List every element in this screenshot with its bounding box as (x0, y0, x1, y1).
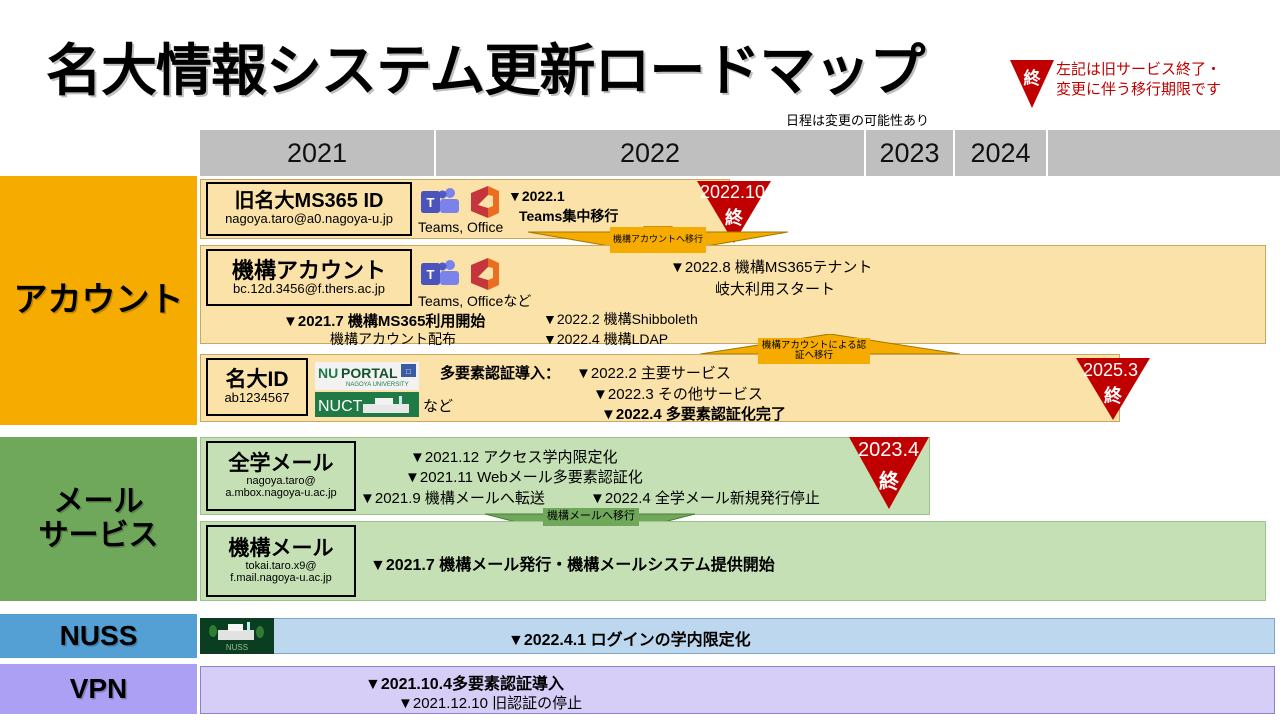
event-kikou-account-1: ▼2022.8 機構MS365テナント (670, 256, 872, 277)
nuct-logo: NUCT (315, 392, 419, 417)
svg-text:T: T (427, 267, 435, 282)
schedule-note: 日程は変更の可能性あり (786, 110, 929, 129)
event-meidai-id-3: ▼2022.3 その他サービス (593, 383, 763, 404)
year-cell-2022: 2022 (436, 130, 866, 176)
teams-icon: T (420, 258, 460, 290)
event-nuss-1: ▼2022.4.1 ログインの学内限定化 (508, 626, 751, 650)
roadmap-slide: 名大情報システム更新ロードマップ 日程は変更の可能性あり 終 左記は旧サービス終… (0, 0, 1280, 720)
icon-caption-kikou-account: Teams, Officeなど (418, 291, 531, 311)
chip-meidai-id: 名大ID ab1234567 (206, 358, 308, 416)
svg-text:PORTAL: PORTAL (341, 365, 398, 381)
svg-text:NUSS: NUSS (226, 643, 248, 652)
event-old-ms365-1: ▼2022.1 (508, 188, 565, 204)
end-marker-2023-4: 2023.4 終 (849, 437, 929, 509)
legend-marker-kanji: 終 (1010, 64, 1054, 89)
migration-label-to-kikou-mail: 機構メールへ移行 (543, 508, 639, 526)
chip-zengaku-mail: 全学メール nagoya.taro@ a.mbox.nagoya-u.ac.jp (206, 441, 356, 511)
event-meidai-id-1: 多要素認証導入： (440, 362, 560, 383)
year-cell-blank (1048, 130, 1280, 176)
event-zengaku-mail-3: ▼2021.9 機構メールへ転送 (360, 487, 545, 508)
migration-label-to-kikou-account: 機構アカウントへ移行 (610, 227, 706, 253)
year-cell-2024: 2024 (955, 130, 1048, 176)
chip-title-zengaku-mail: 全学メール (229, 453, 334, 475)
timeline-year-header: 2021 2022 2023 2024 (200, 130, 1280, 176)
section-label-vpn-text: VPN (70, 673, 128, 704)
end-marker-2025-3-date: 2025.3 (1083, 360, 1138, 381)
svg-text:NAGOYA UNIVERSITY: NAGOYA UNIVERSITY (346, 382, 409, 388)
legend-end-marker-icon: 終 (1010, 60, 1054, 108)
event-meidai-id-4: ▼2022.4 多要素認証化完了 (601, 403, 786, 424)
office-icon (466, 185, 500, 219)
chip-old-ms365-id: 旧名大MS365 ID nagoya.taro@a0.nagoya-u.jp (206, 182, 412, 236)
legend-line-1: 左記は旧サービス終了・ (1056, 60, 1221, 80)
nuss-icon: NUSS (200, 618, 274, 654)
end-marker-2025-3-kanji: 終 (1076, 382, 1150, 408)
chip-sub-kikou-mail-2: f.mail.nagoya-u.ac.jp (230, 572, 332, 584)
icon-caption-meidai-id: など (423, 395, 453, 416)
row-band-vpn (200, 666, 1275, 714)
legend-text: 左記は旧サービス終了・ 変更に伴う移行期限です (1056, 60, 1221, 100)
icon-caption-old-ms365-id: Teams, Office (418, 219, 503, 235)
section-label-mail: メール サービス (0, 437, 197, 601)
event-kikou-account-3: ▼2021.7 機構MS365利用開始 (283, 310, 485, 331)
section-label-mail-line2: サービス (39, 519, 159, 553)
svg-text:NUCT: NUCT (318, 398, 363, 415)
year-cell-2021: 2021 (200, 130, 436, 176)
event-kikou-account-6: ▼2022.4 機構LDAP (543, 329, 668, 349)
event-zengaku-mail-1: ▼2021.12 アクセス学内限定化 (410, 446, 618, 467)
end-marker-2023-4-kanji: 終 (849, 465, 929, 494)
section-label-vpn: VPN (0, 664, 197, 714)
chip-sub-old-ms365-id: nagoya.taro@a0.nagoya-u.jp (225, 212, 393, 227)
event-meidai-id-2: ▼2022.2 主要サービス (576, 362, 731, 383)
section-label-account: アカウント (0, 176, 197, 425)
chip-sub-zengaku-mail-1: nagoya.taro@ (246, 475, 315, 487)
event-zengaku-mail-4: ▼2022.4 全学メール新規発行停止 (590, 487, 820, 508)
event-kikou-account-5: ▼2022.2 機構Shibboleth (543, 309, 698, 329)
event-kikou-account-4: 機構アカウント配布 (330, 329, 456, 349)
chip-sub-zengaku-mail-2: a.mbox.nagoya-u.ac.jp (225, 487, 336, 499)
teams-icon: T (420, 186, 460, 218)
legend-line-2: 変更に伴う移行期限です (1056, 80, 1221, 100)
event-kikou-mail-1: ▼2021.7 機構メール発行・機構メールシステム提供開始 (370, 551, 775, 575)
event-vpn-2: ▼2021.12.10 旧認証の停止 (398, 692, 582, 713)
office-icon (466, 257, 500, 291)
chip-title-meidai-id: 名大ID (226, 369, 289, 391)
chip-kikou-account: 機構アカウント bc.12d.3456@f.thers.ac.jp (206, 249, 412, 306)
chip-title-old-ms365-id: 旧名大MS365 ID (235, 191, 384, 212)
event-kikou-account-2: 岐大利用スタート (715, 278, 835, 299)
nuportal-logo: NU PORTAL □ NAGOYA UNIVERSITY (315, 362, 419, 390)
migration-label-to-kikou-auth: 機構アカウントによる認証へ移行 (758, 338, 870, 364)
event-zengaku-mail-2: ▼2021.11 Webメール多要素認証化 (405, 466, 643, 487)
end-marker-2022-10-date: 2022.10 (700, 182, 765, 203)
svg-text:T: T (427, 195, 435, 210)
end-marker-2025-3: 2025.3 終 (1076, 358, 1150, 420)
chip-sub-kikou-mail-1: tokai.taro.x9@ (245, 560, 316, 572)
svg-text:□: □ (406, 367, 411, 376)
legend: 終 左記は旧サービス終了・ 変更に伴う移行期限です (1010, 60, 1221, 108)
svg-text:NU: NU (318, 365, 338, 381)
page-title: 名大情報システム更新ロードマップ (46, 26, 924, 107)
section-label-account-text: アカウント (14, 281, 184, 319)
event-vpn-1: ▼2021.10.4多要素認証導入 (365, 670, 564, 694)
chip-title-kikou-account: 機構アカウント (232, 259, 386, 282)
chip-title-kikou-mail: 機構メール (229, 538, 334, 560)
end-marker-2023-4-date: 2023.4 (858, 439, 919, 462)
section-label-nuss: NUSS (0, 614, 197, 658)
chip-sub-kikou-account: bc.12d.3456@f.thers.ac.jp (233, 282, 385, 297)
year-cell-2023: 2023 (866, 130, 955, 176)
chip-kikou-mail: 機構メール tokai.taro.x9@ f.mail.nagoya-u.ac.… (206, 525, 356, 597)
section-label-nuss-text: NUSS (60, 620, 138, 651)
event-old-ms365-2: Teams集中移行 (519, 206, 618, 226)
chip-sub-meidai-id: ab1234567 (224, 391, 289, 406)
section-label-mail-line1: メール (54, 485, 144, 519)
